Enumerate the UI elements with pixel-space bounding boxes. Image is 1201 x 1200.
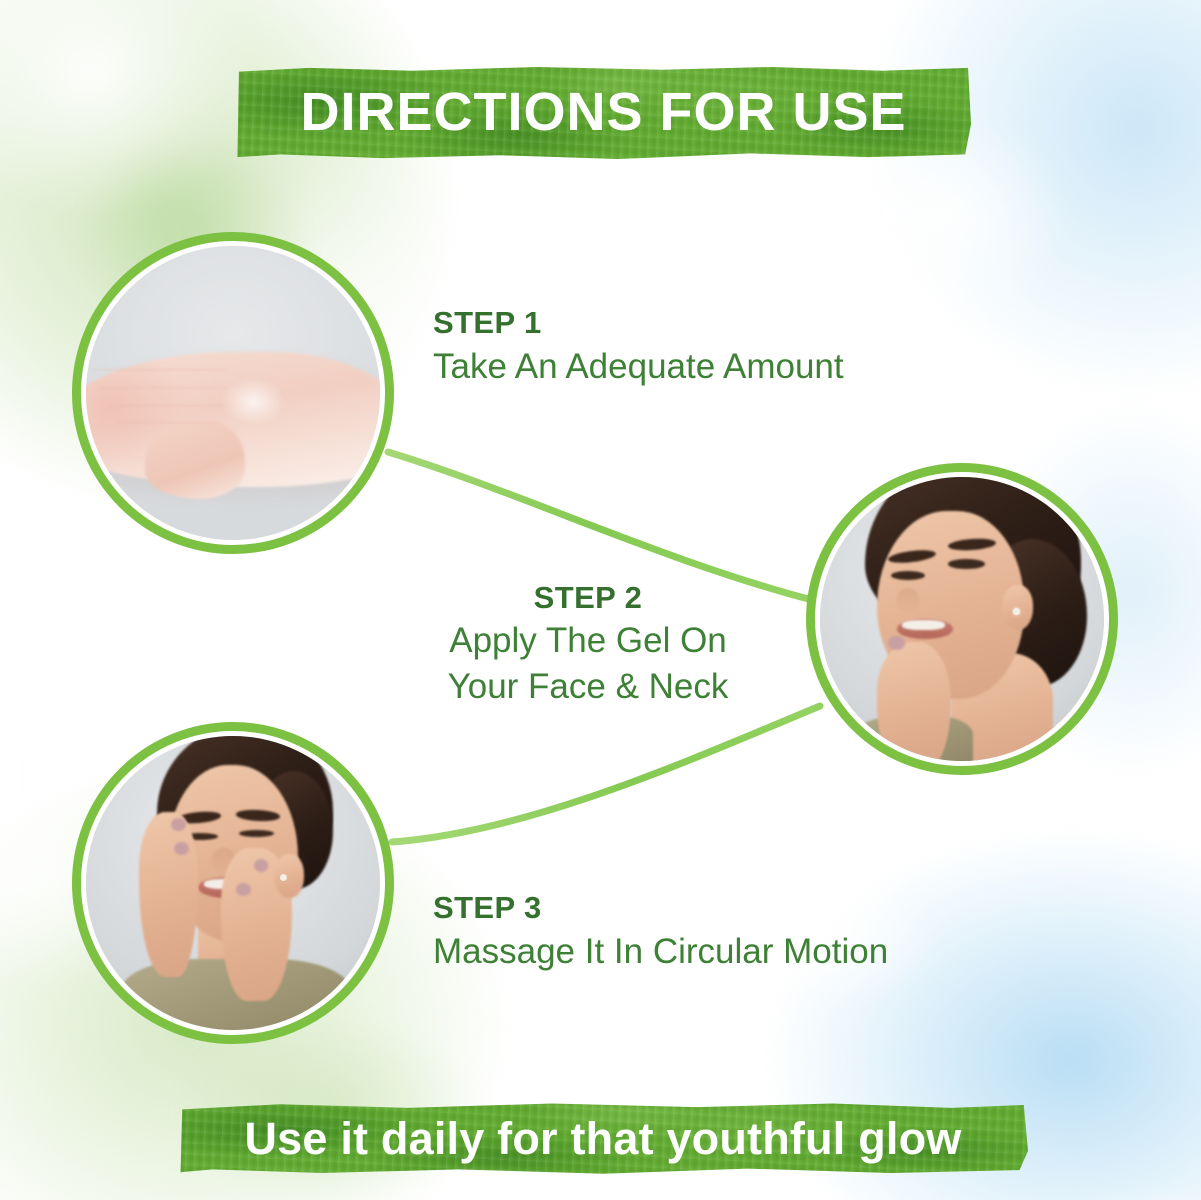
palm-finger-line-2 (98, 387, 227, 389)
step-3-description-line-1: Massage It In Circular Motion (433, 928, 888, 975)
left-eye (891, 571, 925, 580)
step-2-description-line-2: Your Face & Neck (423, 664, 753, 710)
step-3-label: STEP 3 (433, 888, 888, 928)
step-2-description-line-1: Apply The Gel On (423, 618, 753, 664)
step-1-text-block: STEP 1 Take An Adequate Amount (433, 303, 844, 390)
step-1-photo (86, 246, 380, 540)
hand-shape (877, 642, 951, 761)
page-title-banner: DIRECTIONS FOR USE (236, 66, 971, 160)
page-title: DIRECTIONS FOR USE (300, 81, 906, 143)
step-3-photo (86, 736, 380, 1030)
ear-shape-2 (274, 854, 303, 898)
palm-thumb-shape (145, 422, 245, 498)
connector-step3-to-step2 (392, 706, 820, 842)
step-2-text-block: STEP 2 Apply The Gel On Your Face & Neck (423, 578, 753, 710)
right-eye (948, 559, 985, 569)
left-hand-shape (139, 812, 198, 977)
directions-for-use-infographic: DIRECTIONS FOR USE STEP 1 Take An Adequa… (0, 0, 1201, 1200)
fingernail-right-2 (236, 883, 251, 896)
fingernail-left-2 (174, 842, 189, 855)
step-1-image-circle (72, 232, 394, 554)
footer-tagline: Use it daily for that youthful glow (244, 1113, 961, 1165)
footer-tagline-banner: Use it daily for that youthful glow (178, 1102, 1028, 1176)
gel-drop-highlight (221, 378, 286, 425)
step-2-photo (820, 477, 1104, 761)
step-2-image-circle (806, 463, 1118, 775)
palm-finger-line-3 (107, 405, 225, 407)
teeth-shape (902, 620, 945, 630)
step-1-description-line-1: Take An Adequate Amount (433, 343, 844, 390)
step-3-image-circle (72, 722, 394, 1044)
step-1-label: STEP 1 (433, 303, 844, 343)
step-3-text-block: STEP 3 Massage It In Circular Motion (433, 888, 888, 975)
step-2-label: STEP 2 (423, 578, 753, 618)
